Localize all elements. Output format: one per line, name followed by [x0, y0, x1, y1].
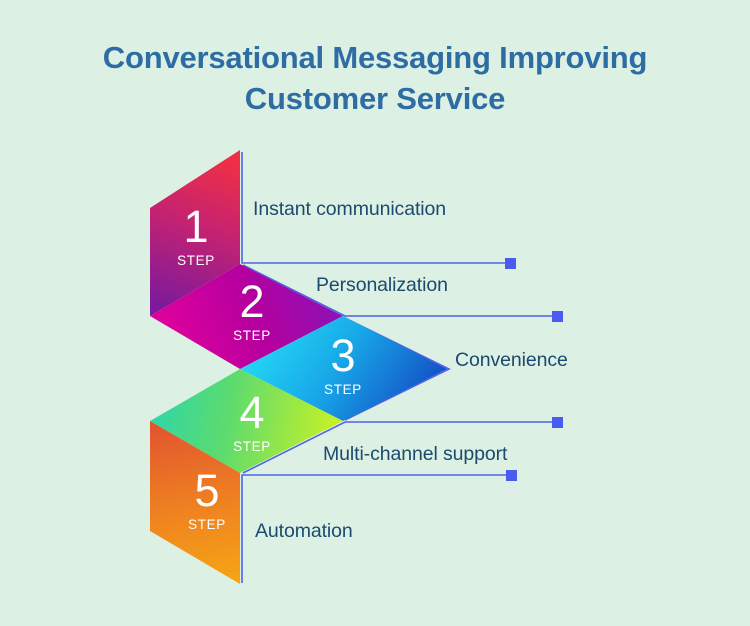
- connector-marker-step-2: [552, 311, 563, 322]
- step-caption-5: STEP: [172, 518, 242, 532]
- connector-marker-step-4: [552, 417, 563, 428]
- connector-marker-step-1: [505, 258, 516, 269]
- step-label-multi-channel-support: Multi-channel support: [323, 443, 507, 466]
- step-label-instant-communication: Instant communication: [253, 198, 446, 221]
- step-label-convenience: Convenience: [455, 349, 568, 372]
- step-caption-3: STEP: [308, 383, 378, 397]
- step-number-2: 2: [222, 279, 282, 324]
- step-caption-2: STEP: [217, 329, 287, 343]
- infographic-canvas: Conversational Messaging Improving Custo…: [0, 0, 750, 626]
- step-number-1: 1: [166, 204, 226, 249]
- process-diagram: [0, 0, 750, 626]
- step-caption-1: STEP: [161, 254, 231, 268]
- step-label-personalization: Personalization: [316, 274, 448, 297]
- step-caption-4: STEP: [217, 440, 287, 454]
- connector-marker-step-5: [506, 470, 517, 481]
- step-number-3: 3: [313, 333, 373, 378]
- step-number-5: 5: [177, 468, 237, 513]
- step-number-4: 4: [222, 390, 282, 435]
- step-label-automation: Automation: [255, 520, 353, 543]
